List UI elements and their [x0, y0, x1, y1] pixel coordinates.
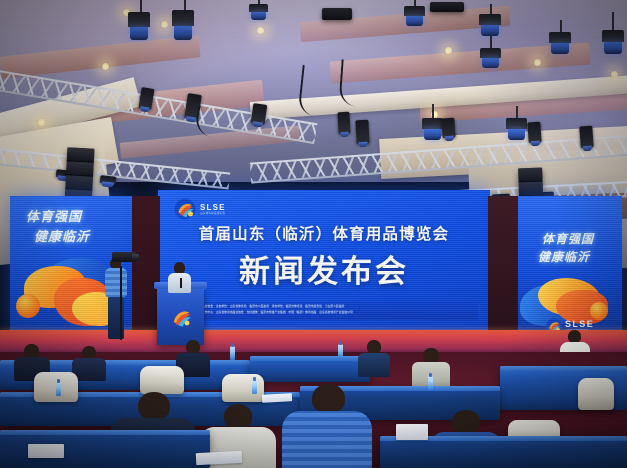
ceiling-downlight	[101, 62, 110, 71]
light-yoke	[422, 118, 443, 129]
attendee-head	[186, 340, 200, 354]
video-camera	[112, 252, 136, 266]
slse-wordmark: SLSE	[200, 203, 226, 212]
light-lens	[424, 129, 440, 140]
moving-head-light	[172, 10, 194, 40]
par-can-light	[579, 126, 594, 149]
attendee-torso	[358, 353, 390, 377]
speaker-cabinet	[66, 161, 94, 176]
par-can-light	[527, 122, 541, 144]
light-lens	[406, 16, 422, 26]
light-yoke	[128, 12, 150, 27]
water-bottle	[428, 376, 433, 390]
speaker-cabinet	[519, 182, 543, 197]
led-left-calligraphy-line2: 健康临沂	[34, 226, 90, 245]
light-yoke	[549, 32, 571, 43]
light-yoke	[506, 118, 527, 129]
ceiling-downlight	[533, 58, 542, 67]
speaker-podium	[157, 287, 204, 345]
light-lens	[551, 43, 568, 54]
camera-monopod	[120, 266, 122, 340]
light-lens	[130, 27, 147, 40]
presenter	[166, 262, 192, 292]
truss-fixture	[100, 175, 117, 185]
attendee-head	[367, 340, 381, 354]
audience-member-foreground	[282, 384, 372, 468]
cameraman	[104, 258, 130, 340]
speaker-cabinet	[67, 147, 95, 162]
par-can-light	[441, 118, 455, 139]
stage-backdrop-gap-left	[132, 196, 160, 336]
audience-chair	[222, 374, 264, 402]
table-top-surface	[500, 366, 627, 371]
light-lens	[174, 26, 191, 40]
swoosh-dot	[16, 294, 40, 318]
led-left-calligraphy-line1: 体育强国	[26, 206, 82, 225]
attendee-torso	[282, 411, 372, 468]
light-lens	[508, 129, 524, 140]
light-yoke	[480, 48, 501, 58]
audience-table-foreground	[380, 436, 627, 468]
sponsor-line-2: 协办单位：兰山区体育工作中心 山东省体育用品业协会 支持媒体：临沂市传媒产业集团…	[174, 310, 474, 314]
led-screen-right: 体育强国 健康临沂 SLSE 山东体育用品博览会	[516, 196, 622, 338]
attendee-head	[138, 392, 170, 420]
event-title: 首届山东（临沂）体育用品博览会	[158, 222, 490, 244]
attendee-head	[224, 404, 252, 429]
table-top-surface	[0, 430, 210, 435]
moving-head-light	[480, 48, 501, 68]
par-can-light	[251, 103, 268, 125]
water-bottle	[338, 344, 343, 358]
attendee-head	[24, 344, 39, 358]
light-yoke	[249, 4, 268, 12]
speaker-cabinet	[65, 175, 93, 190]
expo-logo-block: SLSE 山东体育用品博览会	[174, 198, 226, 220]
name-tent-card	[28, 444, 64, 458]
ceiling-downlight	[256, 26, 265, 35]
sponsor-line-1: 支持单位：中国体育用品业协会 主办单位：山东省体育局 临沂市人民政府 承办单位：…	[174, 304, 474, 308]
ceiling-downlight	[444, 46, 453, 55]
water-bottle	[252, 380, 257, 394]
light-drop-rod	[612, 12, 614, 32]
light-yoke	[404, 6, 425, 16]
stage-backdrop-gap-right	[488, 196, 518, 338]
led-right-calligraphy-line1: 体育强国	[542, 230, 594, 247]
slse-emblem-icon	[168, 305, 194, 329]
press-conference-photo: 体育强国 健康临沂 SLSE 山东体育用品博览会	[0, 0, 627, 468]
podium-microphone	[180, 278, 182, 288]
ceiling-downlight	[610, 70, 619, 79]
moving-head-light	[249, 4, 268, 20]
attendee-head	[312, 384, 345, 413]
moving-head-light	[128, 12, 150, 40]
light-yoke	[602, 30, 624, 42]
light-yoke	[479, 14, 501, 25]
water-bottle	[56, 382, 61, 396]
slse-wordmark-block: SLSE 山东体育用品博览会	[200, 203, 226, 216]
moving-head-light	[549, 32, 571, 54]
led-screen-main: SLSE 山东体育用品博览会 首届山东（临沂）体育用品博览会 新闻发布会 支持单…	[158, 190, 490, 334]
handout-paper	[262, 393, 292, 403]
ceiling-speaker	[322, 8, 352, 20]
cameraman-torso	[105, 268, 127, 298]
moving-head-light	[422, 118, 443, 140]
ceiling-downlight	[160, 20, 169, 29]
ceiling-speaker	[430, 2, 464, 12]
handout-paper	[196, 451, 243, 465]
par-can-light	[337, 112, 350, 135]
light-lens	[481, 25, 498, 36]
sponsor-fineprint-band: 支持单位：中国体育用品业协会 主办单位：山东省体育局 临沂市人民政府 承办单位：…	[170, 302, 478, 320]
moving-head-light	[404, 6, 425, 26]
name-tent-card	[396, 424, 428, 440]
slse-wordmark-subtitle: 山东体育用品博览会	[200, 212, 226, 216]
audience-member	[358, 340, 390, 376]
light-lens	[482, 58, 498, 68]
ceiling-downlight	[37, 118, 46, 127]
attendee-head	[452, 410, 480, 434]
audience-chair	[578, 378, 614, 410]
moving-head-light	[479, 14, 501, 36]
audience-chair	[140, 366, 184, 394]
audience-member	[72, 346, 106, 380]
led-right-calligraphy-line2: 健康临沂	[538, 248, 590, 265]
table-top-surface	[250, 356, 370, 361]
camera-lens	[132, 254, 139, 260]
light-lens	[604, 42, 621, 54]
attendee-head	[423, 348, 439, 363]
podium-logo	[168, 305, 194, 329]
water-bottle	[230, 346, 235, 360]
par-can-light	[355, 120, 369, 145]
speaker-cabinet	[518, 168, 542, 183]
light-lens	[251, 12, 266, 20]
moving-head-light	[506, 118, 527, 140]
press-conference-headline: 新闻发布会	[158, 246, 490, 291]
light-yoke	[172, 10, 194, 26]
moving-head-light	[602, 30, 624, 54]
audience-table	[250, 356, 370, 382]
slse-emblem-icon	[174, 198, 196, 220]
